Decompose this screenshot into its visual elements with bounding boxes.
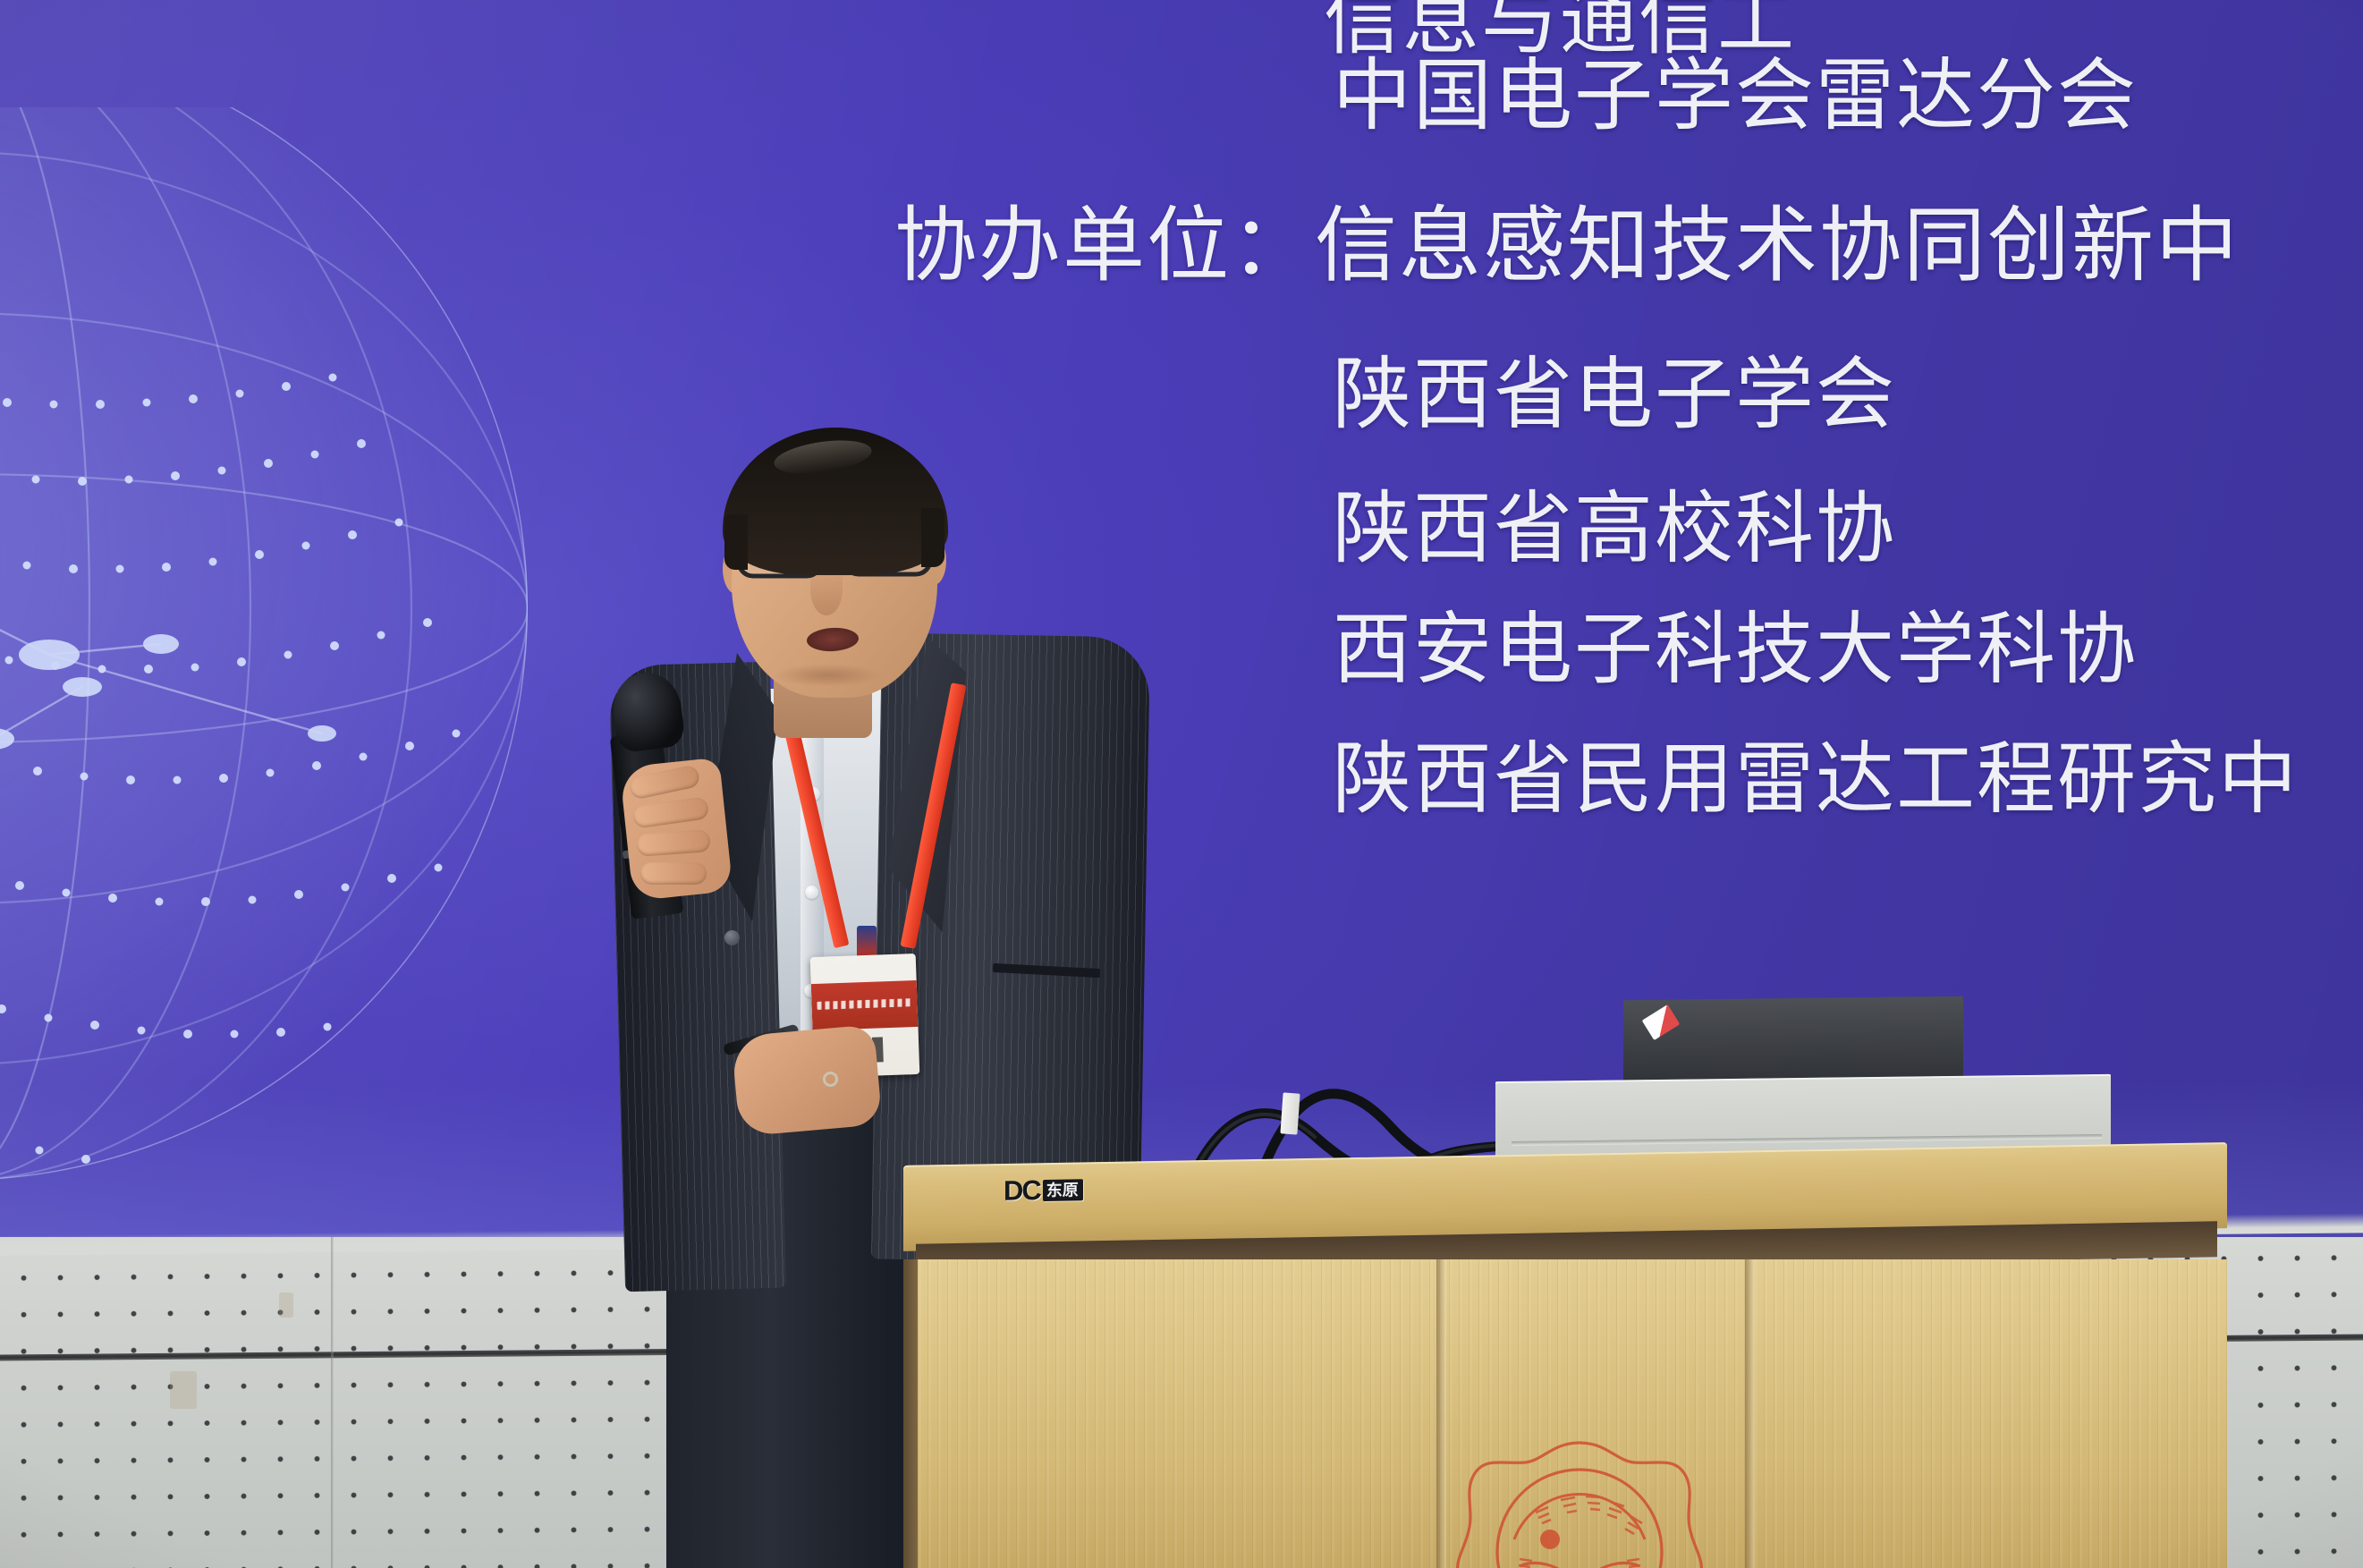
sideburn-right	[921, 508, 944, 567]
backdrop-text-line-2: 协办单位：信息感知技术协同创新中	[894, 179, 2240, 298]
backdrop-text-line-4: 陕西省高校科协	[1333, 465, 1896, 579]
sideburn-left	[724, 514, 748, 570]
wooden-lectern: DC 东原	[903, 1154, 2227, 1568]
chin-shadow	[774, 664, 881, 687]
hand-lower	[731, 1024, 882, 1137]
shirt-button	[805, 886, 818, 899]
blazer-button	[724, 930, 740, 945]
lectern-panel-groove	[1436, 1259, 1446, 1568]
photo-scene: 信息与通信工 中国电子学会雷达分会 协办单位：信息感知技术协同创新中 陕西省电子…	[0, 0, 2363, 1568]
backdrop-text-line-6: 陕西省民用雷达工程研究中	[1333, 716, 2299, 829]
brand-label-text: 东原	[1043, 1179, 1083, 1201]
lectern-brand-logo: DC 东原	[1004, 1175, 1083, 1205]
backdrop-text-line-3: 陕西省电子学会	[1333, 331, 1896, 445]
finger	[640, 862, 707, 885]
backdrop-text-line-1: 中国电子学会雷达分会	[1333, 32, 2138, 146]
lectern-panel-groove	[1745, 1259, 1755, 1568]
brand-mark-text: DC	[1004, 1176, 1040, 1205]
wall-smudge	[279, 1293, 293, 1318]
cable-label-tag	[1280, 1092, 1300, 1134]
wall-smudge	[170, 1371, 197, 1409]
backdrop-text-line-0: 信息与通信工	[1324, 0, 1796, 69]
lanyard-clip	[857, 926, 877, 958]
laptop-lid	[1623, 996, 1963, 1086]
dotted-globe-network-graphic	[0, 107, 653, 1288]
lectern-front-panel	[918, 1259, 2227, 1568]
wall-vertical-seam	[331, 1237, 334, 1568]
xidian-university-seal-icon	[1450, 1434, 1709, 1568]
backdrop-text-line-5: 西安电子科技大学科协	[1333, 586, 2138, 699]
